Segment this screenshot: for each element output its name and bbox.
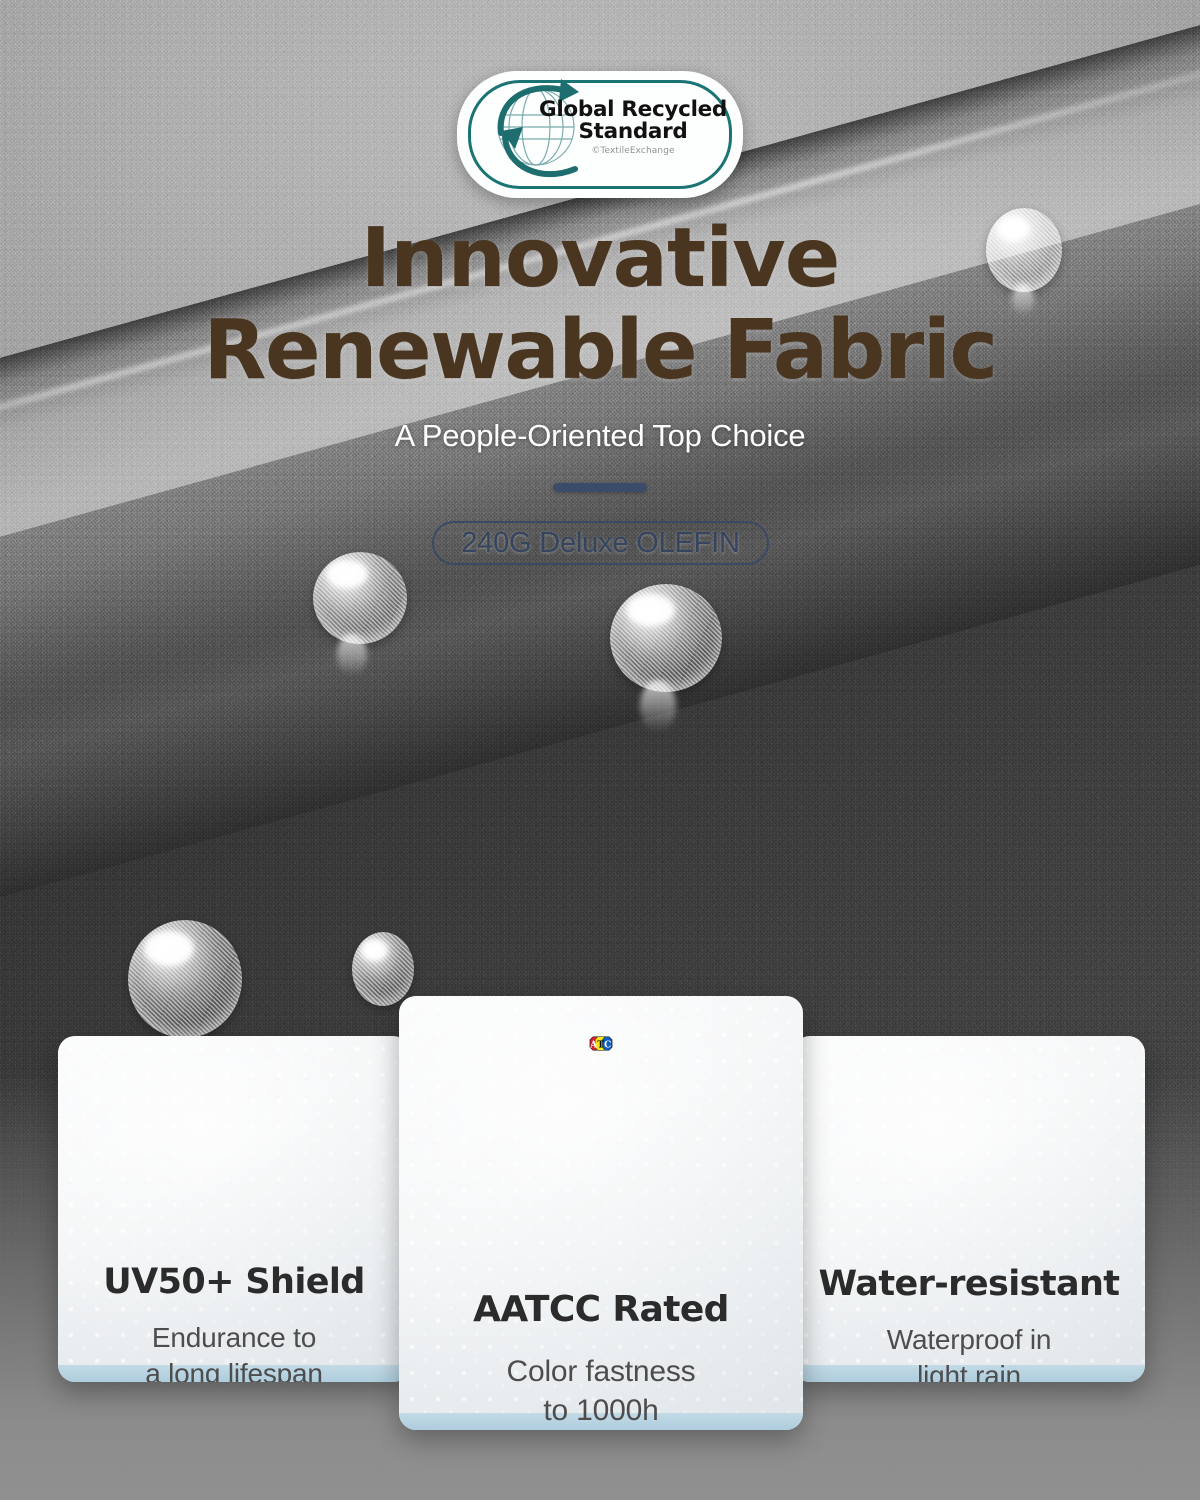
page-title-line-2: Renewable Fabric <box>0 305 1200 397</box>
badge-trademark: ©TextileExchange <box>535 147 731 156</box>
feature-title: AATCC Rated <box>473 1289 729 1330</box>
aatcc-letter-c: C <box>604 1040 611 1050</box>
feature-desc-line-2: to 1000h <box>543 1394 658 1427</box>
water-droplet <box>610 584 722 692</box>
spec-badge: 240G Deluxe OLEFIN <box>432 521 769 565</box>
spec-badge-label: 240G Deluxe OLEFIN <box>461 527 739 560</box>
feature-description: Waterproof in light rain <box>887 1322 1051 1382</box>
feature-title: Water-resistant <box>819 1264 1120 1304</box>
badge-line-1: Global Recycled <box>535 99 731 121</box>
feature-desc-line-2: light rain <box>917 1360 1021 1382</box>
feature-title: UV50+ Shield <box>103 1262 364 1302</box>
feature-desc-line-1: Waterproof in <box>887 1324 1051 1355</box>
aatcc-letter-a: A <box>589 1040 598 1050</box>
water-droplet-tail <box>337 634 367 676</box>
feature-card-uv[interactable]: UV UV50+ Shield Endurance to a long life… <box>58 1036 410 1382</box>
feature-desc-line-1: Endurance to <box>152 1322 316 1353</box>
feature-description: Endurance to a long lifespan <box>145 1320 323 1382</box>
product-banner: Global Recycled Standard ©TextileExchang… <box>0 0 1200 1500</box>
page-title-line-1: Innovative <box>361 211 840 306</box>
feature-card-water-resistant[interactable]: Water-resistant Waterproof in light rain <box>793 1036 1145 1382</box>
aatcc-letter-t: T <box>597 1040 604 1050</box>
badge-line-2: Standard <box>535 121 731 143</box>
water-droplet <box>128 920 242 1038</box>
feature-description: Color fastness to 1000h <box>507 1352 696 1430</box>
title-divider <box>553 483 647 492</box>
grs-certification-badge: Global Recycled Standard ©TextileExchang… <box>457 71 743 198</box>
water-droplet <box>313 552 407 644</box>
page-subtitle: A People-Oriented Top Choice <box>0 418 1200 454</box>
water-droplet-tail <box>640 680 676 732</box>
feature-card-aatcc[interactable]: A T C AATCC Rated Color fastness to 1000… <box>399 996 803 1430</box>
water-droplet <box>352 932 414 1006</box>
page-title: Innovative Renewable Fabric <box>0 213 1200 397</box>
aatcc-logo-icon: A T C <box>476 1036 726 1051</box>
feature-desc-line-1: Color fastness <box>507 1355 696 1388</box>
feature-desc-line-2: a long lifespan <box>145 1358 323 1382</box>
